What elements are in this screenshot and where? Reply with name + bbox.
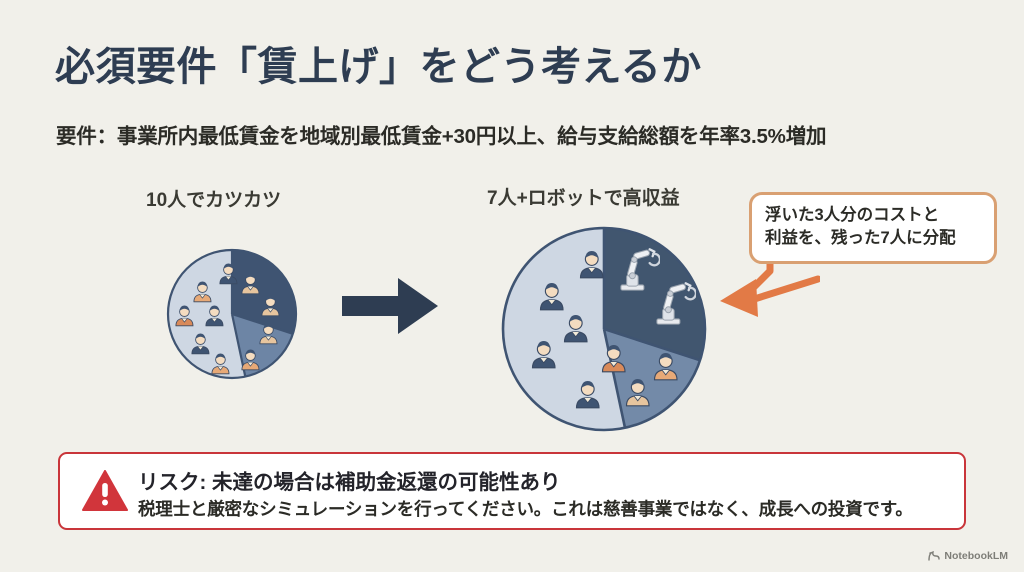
transition-arrow-icon [342,278,438,339]
person-icon [578,249,606,279]
person-avatar [530,339,558,374]
person-icon [210,352,231,375]
callout-line-1: 浮いた3人分のコストと [765,204,982,227]
pie-chart-before [166,248,298,380]
savings-callout: 浮いた3人分のコストと 利益を、残った7人に分配 [749,192,997,264]
person-icon [218,262,239,285]
person-avatar [578,249,606,284]
person-icon [240,348,261,371]
person-icon [258,322,279,345]
person-avatar [574,379,602,414]
pie-chart-after [500,225,708,433]
person-avatar [258,322,279,350]
person-avatar [240,272,261,300]
person-icon [174,304,195,327]
person-icon [240,272,261,295]
person-avatar [218,262,239,290]
person-avatar [210,352,231,380]
person-avatar [240,348,261,376]
person-avatar [260,294,281,322]
slide-canvas: 必須要件「賃上げ」をどう考えるか 要件：事業所内最低賃金を地域別最低賃金+30円… [0,0,1024,572]
person-icon [538,281,566,311]
callout-line-2: 利益を、残った7人に分配 [765,227,982,250]
person-icon [652,351,680,381]
risk-detail: 税理士と厳密なシミュレーションを行ってください。これは慈善事業ではなく、成長への… [138,496,913,521]
person-icon [260,294,281,317]
watermark: NotebookLM [928,550,1008,562]
person-avatar [538,281,566,316]
requirement-subtitle: 要件：事業所内最低賃金を地域別最低賃金+30円以上、給与支給総額を年率3.5%増… [56,119,826,149]
left-chart-caption: 10人でカツカツ [146,185,281,212]
notebooklm-icon [928,550,940,562]
person-avatar [652,351,680,386]
page-title: 必須要件「賃上げ」をどう考えるか [55,34,702,92]
person-avatar [190,332,211,360]
person-icon [530,339,558,369]
risk-heading: リスク: 未達の場合は補助金返還の可能性あり [138,465,561,495]
person-avatar [174,304,195,332]
warning-triangle-icon [82,470,128,517]
robot-arm [650,281,696,332]
person-avatar [624,377,652,412]
person-icon [190,332,211,355]
right-chart-caption: 7人+ロボットで高収益 [487,183,680,210]
risk-warning-box: リスク: 未達の場合は補助金返還の可能性あり 税理士と厳密なシミュレーションを行… [58,452,966,530]
person-icon [624,377,652,407]
person-icon [600,343,628,373]
watermark-label: NotebookLM [944,550,1008,562]
person-avatar [204,304,225,332]
person-icon [192,280,213,303]
person-icon [574,379,602,409]
person-icon [204,304,225,327]
person-avatar [600,343,628,378]
person-avatar [562,313,590,348]
robot-arm-icon [650,281,696,327]
person-icon [562,313,590,343]
